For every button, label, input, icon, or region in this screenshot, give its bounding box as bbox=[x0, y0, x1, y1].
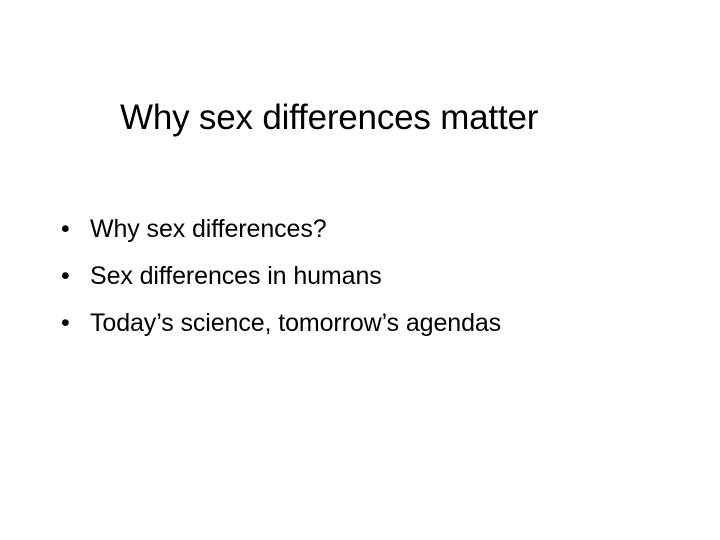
list-item-label: Sex differences in humans bbox=[90, 262, 382, 290]
bullet-point-icon: • bbox=[61, 300, 81, 347]
list-item-label: Why sex differences? bbox=[90, 215, 327, 243]
list-item-label: Today’s science, tomorrow’s agendas bbox=[90, 309, 501, 337]
bullet-point-icon: • bbox=[61, 253, 81, 300]
list-item: • Today’s science, tomorrow’s agendas bbox=[58, 300, 658, 347]
list-item: • Sex differences in humans bbox=[58, 253, 658, 300]
page-title: Why sex differences matter bbox=[120, 97, 610, 139]
bullet-point-icon: • bbox=[61, 206, 81, 253]
bullet-list: • Why sex differences? • Sex differences… bbox=[58, 206, 658, 347]
presentation-slide: Why sex differences matter • Why sex dif… bbox=[0, 0, 720, 540]
list-item: • Why sex differences? bbox=[58, 206, 658, 253]
